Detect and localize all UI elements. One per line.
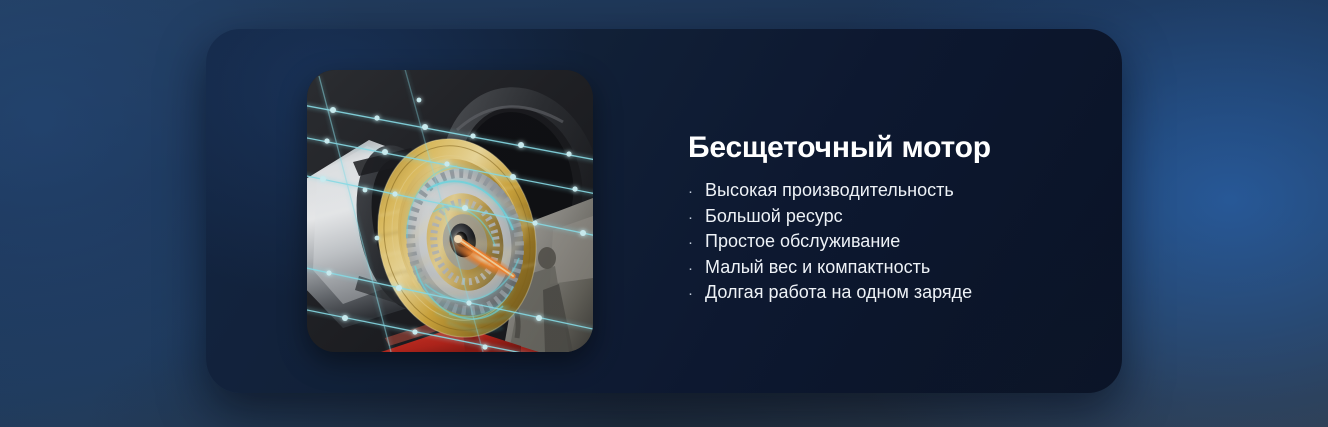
bullet-icon: · xyxy=(688,230,705,256)
page-title: Бесщеточный мотор xyxy=(688,130,1088,166)
bullet-icon: · xyxy=(688,205,705,231)
brushless-motor-cutaway-image xyxy=(307,70,593,352)
feature-list: · Высокая производительность · Большой р… xyxy=(688,178,1088,306)
list-item: · Простое обслуживание xyxy=(688,229,1088,255)
bullet-icon: · xyxy=(688,281,705,307)
list-item: · Большой ресурс xyxy=(688,204,1088,230)
bullet-icon: · xyxy=(688,256,705,282)
list-item-label: Простое обслуживание xyxy=(705,229,900,255)
list-item-label: Долгая работа на одном заряде xyxy=(705,280,972,306)
list-item: · Малый вес и компактность xyxy=(688,255,1088,281)
feature-content: Бесщеточный мотор · Высокая производител… xyxy=(688,130,1088,306)
bullet-icon: · xyxy=(688,179,705,205)
list-item-label: Малый вес и компактность xyxy=(705,255,930,281)
feature-card: Бесщеточный мотор · Высокая производител… xyxy=(206,29,1122,393)
promo-banner: Бесщеточный мотор · Высокая производител… xyxy=(0,0,1328,427)
list-item-label: Большой ресурс xyxy=(705,204,843,230)
list-item-label: Высокая производительность xyxy=(705,178,954,204)
motor-image[interactable] xyxy=(307,70,593,352)
list-item: · Долгая работа на одном заряде xyxy=(688,280,1088,306)
list-item: · Высокая производительность xyxy=(688,178,1088,204)
